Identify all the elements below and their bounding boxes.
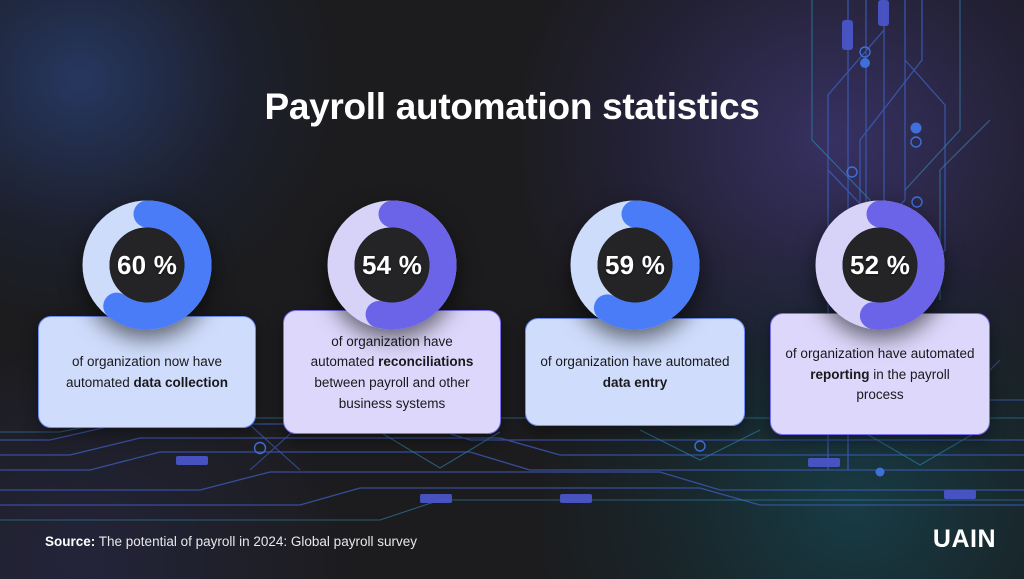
source-label: Source:: [45, 534, 95, 549]
stat-card-data-collection: of organization now have automated data …: [38, 316, 256, 428]
stat-text-highlight: data entry: [603, 375, 668, 390]
stat-text-before: of organization have automated: [540, 354, 729, 369]
stat-text-before: of organization have automated: [785, 346, 974, 361]
stat-card-data-entry: of organization have automated data entr…: [525, 318, 745, 426]
donut-gauge-data-entry: 59 %: [570, 200, 700, 330]
donut-percent-label-reporting: 52 %: [815, 200, 945, 330]
donut-percent-label-data-collection: 60 %: [82, 200, 212, 330]
donut-percent-label-reconciliations: 54 %: [327, 200, 457, 330]
stat-card-text-reporting: of organization have automated reporting…: [785, 344, 975, 406]
stat-card-text-reconciliations: of organization have automated reconcili…: [298, 332, 486, 414]
page-title: Payroll automation statistics: [0, 86, 1024, 128]
donut-gauge-reconciliations: 54 %: [327, 200, 457, 330]
donut-gauge-data-collection: 60 %: [82, 200, 212, 330]
donut-percent-label-data-entry: 59 %: [570, 200, 700, 330]
infographic-canvas: Payroll automation statistics of organiz…: [0, 0, 1024, 579]
donut-gauge-reporting: 52 %: [815, 200, 945, 330]
stat-card-text-data-entry: of organization have automated data entr…: [540, 352, 730, 393]
source-text: The potential of payroll in 2024: Global…: [99, 534, 417, 549]
stat-text-highlight: reconciliations: [378, 354, 473, 369]
source-note: Source: The potential of payroll in 2024…: [45, 534, 417, 549]
stat-text-highlight: reporting: [810, 367, 869, 382]
stat-text-highlight: data collection: [134, 375, 229, 390]
brand-logo: UAIN: [933, 525, 996, 554]
stat-card-reporting: of organization have automated reporting…: [770, 313, 990, 435]
stat-card-text-data-collection: of organization now have automated data …: [53, 352, 241, 393]
stat-text-after: between payroll and other business syste…: [314, 375, 469, 411]
stat-text-after: in the payroll process: [856, 367, 949, 403]
